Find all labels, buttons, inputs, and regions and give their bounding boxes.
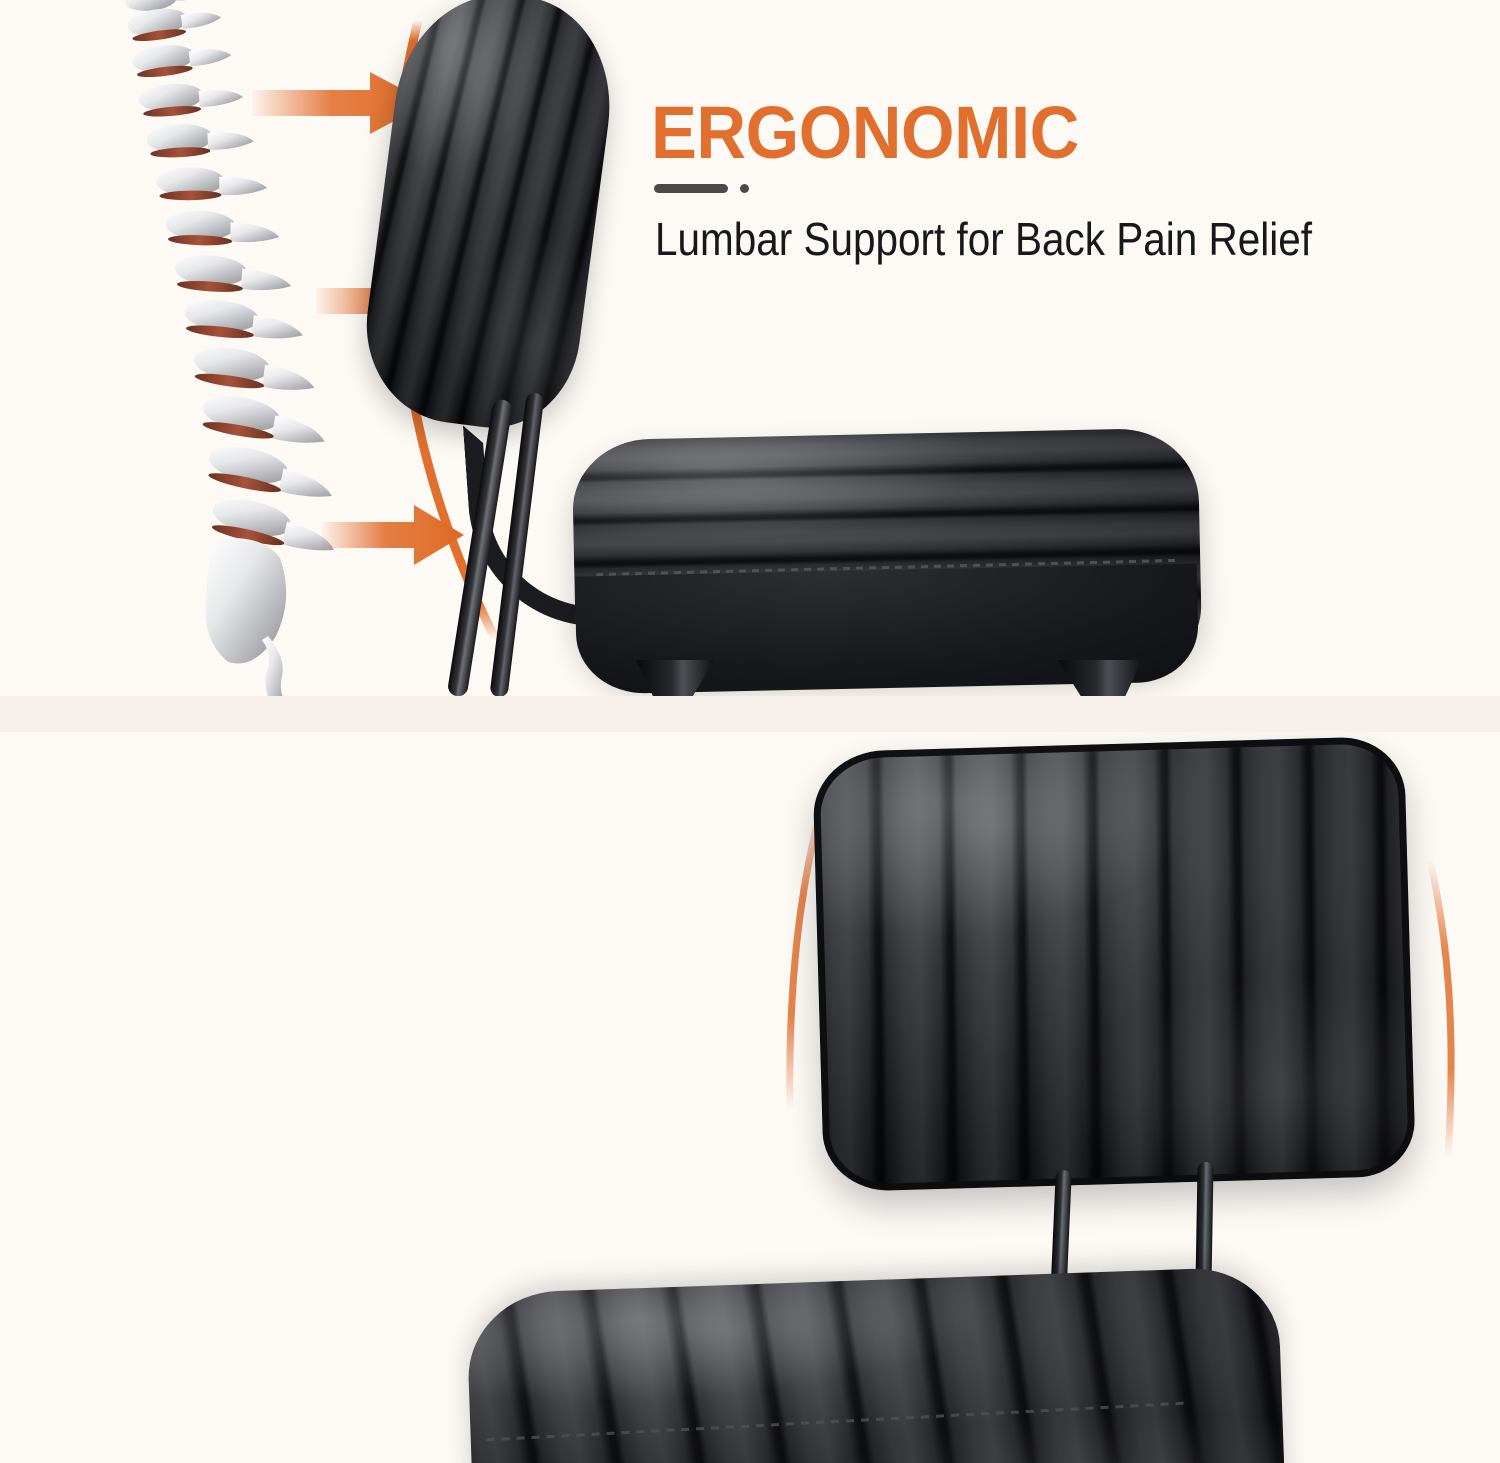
divider-mark-top — [654, 184, 749, 193]
divider-bar — [654, 184, 728, 193]
pointer-arrow-lower — [322, 502, 472, 573]
backrest-edge-piping — [812, 736, 1416, 1192]
panel-separator-band — [0, 696, 1500, 732]
divider-dot — [740, 184, 749, 193]
product-feature-image: ERGONOMIC Lumbar Support for Back Pain R… — [0, 0, 1500, 1463]
chair-backrest-front-view — [812, 736, 1416, 1192]
page-title-ergonomic: ERGONOMIC — [651, 96, 1079, 170]
accent-arc-right — [1408, 852, 1498, 1187]
panel-vertical-stripe-design: VERTICAL STRIPE DESIGN Simple and Beauti… — [0, 732, 1500, 1463]
panel-ergonomic: ERGONOMIC Lumbar Support for Back Pain R… — [0, 0, 1500, 696]
subtitle-lumbar-support: Lumbar Support for Back Pain Relief — [655, 212, 1312, 266]
chair-leg-right — [1058, 660, 1142, 696]
